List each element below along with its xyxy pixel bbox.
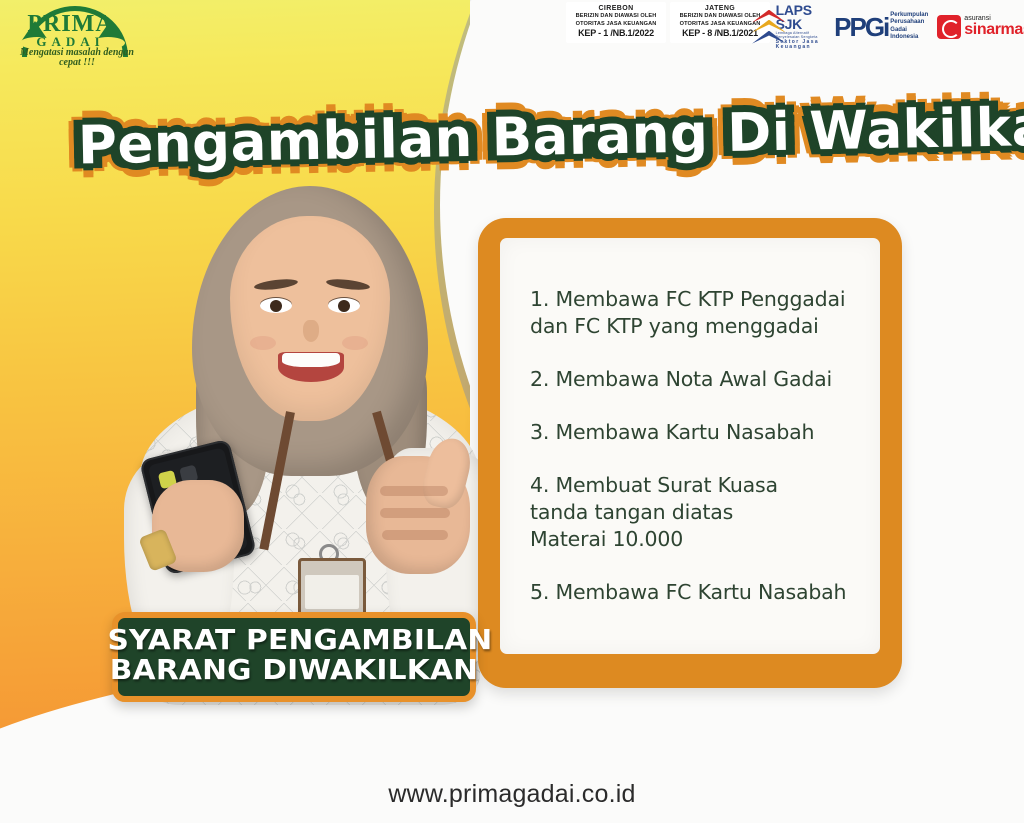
ppgi-line-1: Perkumpulan [890, 12, 928, 20]
ppgi-line-4: Indonesia [890, 34, 928, 42]
partner-logo-group: LAPS SJK Lembaga Alternatif Penyelesaian… [752, 3, 1024, 50]
ppgi-line-3: Gadai [890, 27, 928, 35]
footer-website[interactable]: www.primagadai.co.id [0, 780, 1024, 809]
header-bar: PRIMA GADAI Mengatasi masalah dengan cep… [0, 0, 1024, 52]
requirement-line: tanda tangan diatas [530, 499, 866, 526]
requirement-line: 4. Membuat Surat Kuasa [530, 472, 866, 499]
syarat-ribbon-banner: SYARAT PENGAMBILAN BARANG DIWAKILKAN [112, 612, 476, 702]
brand-logo[interactable]: PRIMA GADAI Mengatasi masalah dengan cep… [8, 4, 133, 56]
requirement-line: Materai 10.000 [530, 526, 866, 553]
permit-region: CIREBON [570, 4, 662, 13]
requirement-line: 2. Membawa Nota Awal Gadai [530, 366, 866, 393]
eye-left [260, 298, 292, 313]
sinarmas-logo: asuransi sinarmas [937, 15, 1024, 39]
ppgi-mark-text: PPGi [834, 14, 888, 40]
laps-sjk-logo: LAPS SJK Lembaga Alternatif Penyelesaian… [752, 3, 825, 50]
requirements-card-inner: 1. Membawa FC KTP Penggadai dan FC KTP y… [500, 238, 880, 654]
ppgi-fullname: Perkumpulan Perusahaan Gadai Indonesia [890, 12, 928, 42]
laps-chevron-icon [752, 9, 773, 45]
list-item: 4. Membuat Surat Kuasa tanda tangan diat… [530, 472, 866, 553]
logo-tagline: Mengatasi masalah dengan cepat !!! [12, 48, 142, 68]
finger-line [380, 508, 450, 518]
permit-line-1: BERIZIN DAN DIAWASI OLEH [570, 13, 662, 21]
poster-title-container: Pengambilan Barang Di Wakilkan [77, 88, 958, 189]
permit-line-2: OTORITAS JASA KEUANGAN [570, 21, 662, 29]
cheek-right [342, 336, 368, 350]
ppgi-line-2: Perusahaan [890, 19, 928, 27]
permit-badge: CIREBON BERIZIN DAN DIAWASI OLEH OTORITA… [566, 2, 666, 43]
requirement-line: dan FC KTP yang menggadai [530, 313, 866, 340]
poster-root: PRIMA GADAI Mengatasi masalah dengan cep… [0, 0, 1024, 823]
ribbon-line-1: SYARAT PENGAMBILAN [107, 626, 480, 654]
sinarmas-line-2: sinarmas [964, 22, 1024, 38]
laps-sjk-sub1: Lembaga Alternatif Penyelesaian Sengketa [776, 32, 826, 39]
finger-line [382, 530, 448, 540]
ojk-permit-group: CIREBON BERIZIN DAN DIAWASI OLEH OTORITA… [566, 2, 770, 43]
list-item: 1. Membawa FC KTP Penggadai dan FC KTP y… [530, 286, 866, 340]
eye-right [328, 298, 360, 313]
logo-primary-text: PRIMA [8, 12, 133, 36]
list-item: 3. Membawa Kartu Nasabah [530, 419, 866, 446]
requirements-list: 1. Membawa FC KTP Penggadai dan FC KTP y… [530, 286, 866, 632]
page-title: Pengambilan Barang Di Wakilkan [77, 88, 958, 189]
sinarmas-swirl-icon [937, 15, 961, 39]
requirements-card: 1. Membawa FC KTP Penggadai dan FC KTP y… [478, 218, 902, 688]
list-item: 2. Membawa Nota Awal Gadai [530, 366, 866, 393]
nose [303, 320, 319, 342]
laps-sjk-text: LAPS SJK Lembaga Alternatif Penyelesaian… [776, 3, 826, 50]
finger-line [380, 486, 448, 496]
ppgi-logo: PPGi Perkumpulan Perusahaan Gadai Indone… [834, 12, 928, 42]
laps-sjk-name: LAPS SJK [776, 3, 826, 31]
requirement-line: 3. Membawa Kartu Nasabah [530, 419, 866, 446]
sinarmas-text: asuransi sinarmas [964, 15, 1024, 38]
mouth [278, 352, 344, 382]
list-item: 5. Membawa FC Kartu Nasabah [530, 579, 866, 606]
id-card-holder [298, 558, 366, 616]
requirement-line: 1. Membawa FC KTP Penggadai [530, 286, 866, 313]
ribbon-line-2: BARANG DIWAKILKAN [107, 656, 480, 684]
requirement-line: 5. Membawa FC Kartu Nasabah [530, 579, 866, 606]
teeth [282, 353, 340, 367]
cheek-left [250, 336, 276, 350]
permit-kep-number: KEP - 1 /NB.1/2022 [570, 28, 662, 40]
